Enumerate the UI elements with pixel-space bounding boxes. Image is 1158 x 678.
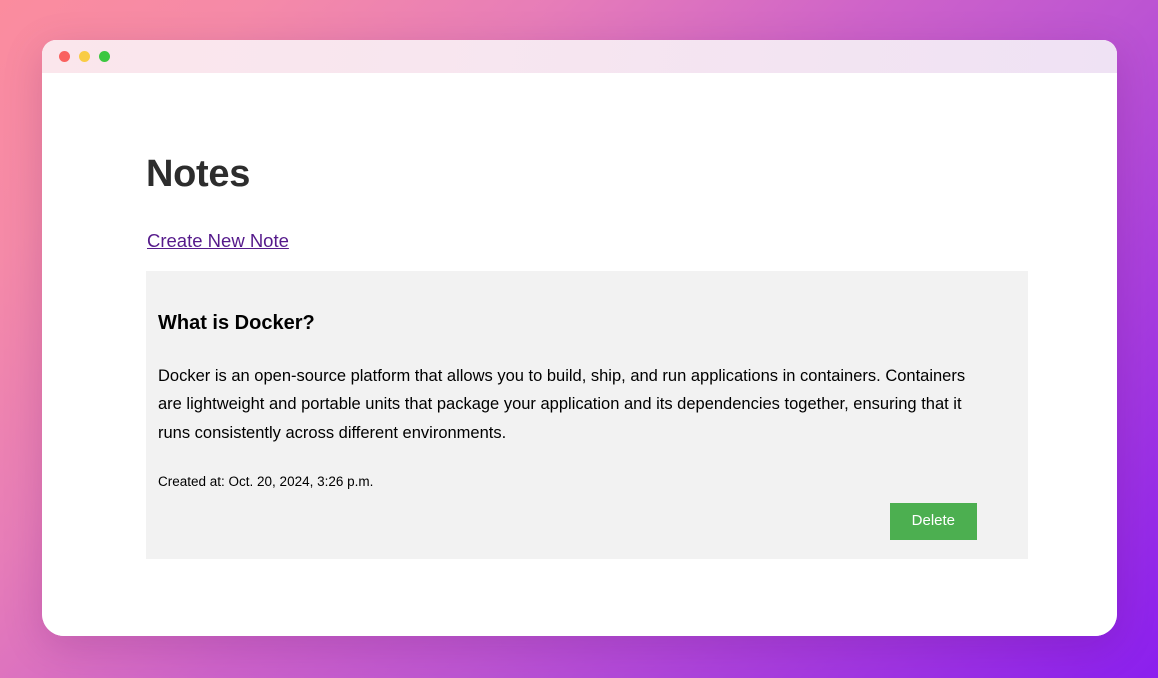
close-window-icon[interactable]: [59, 51, 70, 62]
note-title: What is Docker?: [158, 311, 988, 335]
create-new-note-link[interactable]: Create New Note: [147, 230, 289, 252]
note-actions: Delete: [158, 503, 988, 540]
page-content: Notes Create New Note What is Docker? Do…: [42, 73, 1117, 636]
delete-button[interactable]: Delete: [890, 503, 977, 540]
browser-window: Notes Create New Note What is Docker? Do…: [42, 40, 1117, 636]
maximize-window-icon[interactable]: [99, 51, 110, 62]
browser-title-bar: [42, 40, 1117, 73]
minimize-window-icon[interactable]: [79, 51, 90, 62]
note-body: Docker is an open-source platform that a…: [158, 362, 992, 447]
note-created-at: Created at: Oct. 20, 2024, 3:26 p.m.: [158, 474, 988, 489]
page-title: Notes: [146, 153, 250, 196]
note-card: What is Docker? Docker is an open-source…: [146, 271, 1028, 559]
